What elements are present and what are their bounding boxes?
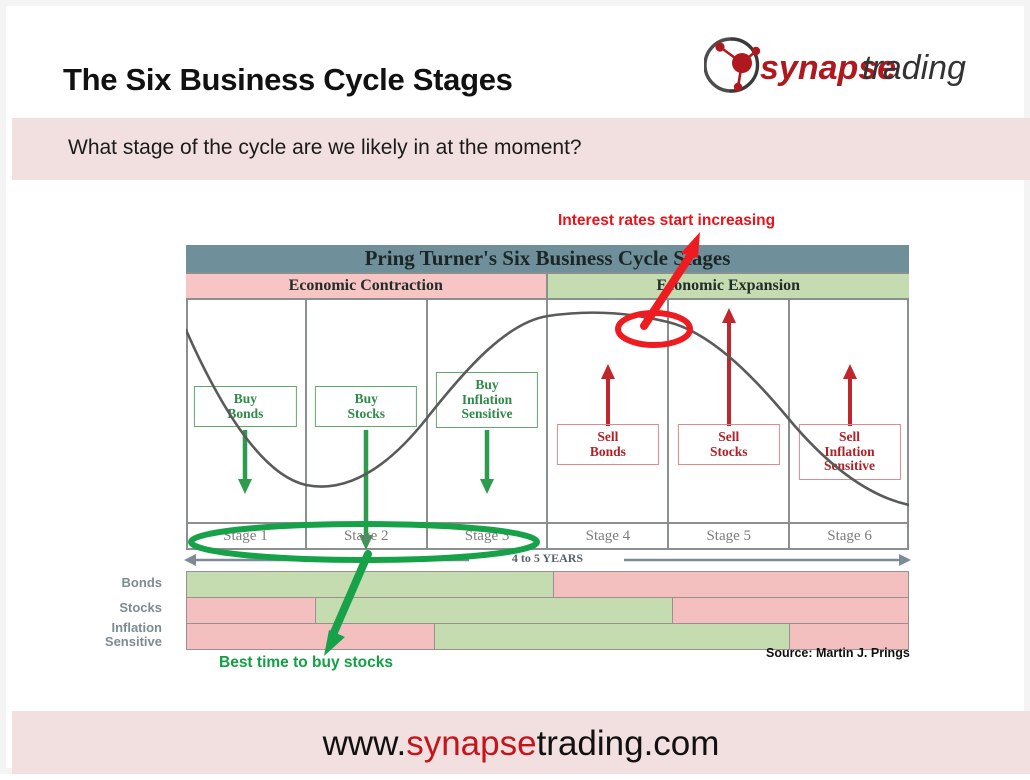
logo-svg: synapse trading — [704, 33, 966, 97]
asset-bar-segment — [187, 598, 315, 623]
phase-economic-expansion: Economic Expansion — [548, 274, 910, 298]
phase-band: Economic Contraction Economic Expansion — [186, 274, 909, 300]
stage-label-1: Stage 1 — [186, 524, 307, 548]
asset-label-inflation-sensitive: Inflation Sensitive — [105, 621, 162, 649]
logo-brand-suffix-text: trading — [862, 49, 966, 87]
phase-economic-contraction: Economic Contraction — [186, 274, 548, 298]
stage-label-6: Stage 6 — [790, 524, 909, 548]
chart-header-band: Pring Turner's Six Business Cycle Stages — [186, 245, 909, 274]
duration-label: 4 to 5 YEARS — [184, 551, 911, 566]
asset-bar-segment — [315, 598, 671, 623]
synapsetrading-logo: synapse trading — [704, 33, 966, 97]
asset-bar-segment — [187, 624, 434, 649]
asset-label-stocks: Stocks — [119, 601, 162, 615]
chart-title: Pring Turner's Six Business Cycle Stages — [365, 246, 731, 271]
asset-performance-bars — [186, 571, 909, 647]
subtitle-text: What stage of the cycle are we likely in… — [68, 136, 582, 160]
footer-url-brand: synapse — [406, 724, 536, 763]
stage-label-3: Stage 3 — [428, 524, 549, 548]
business-cycle-chart: Pring Turner's Six Business Cycle Stages… — [186, 245, 909, 550]
stage-label-2: Stage 2 — [307, 524, 428, 548]
stage-labels-row: Stage 1 Stage 2 Stage 3 Stage 4 Stage 5 … — [186, 522, 909, 548]
asset-label-bonds: Bonds — [122, 576, 162, 590]
asset-bar-segment — [187, 572, 553, 597]
annotation-interest-rates: Interest rates start increasing — [558, 212, 775, 230]
asset-bar-row-bonds — [186, 571, 909, 598]
annotation-best-time: Best time to buy stocks — [219, 654, 393, 672]
asset-bar-segment — [434, 624, 789, 649]
synapse-node-icon — [705, 39, 760, 91]
asset-bar-row-stocks — [186, 598, 909, 624]
asset-bar-segment — [553, 572, 908, 597]
duration-bar: 4 to 5 YEARS — [184, 551, 911, 569]
asset-bar-segment — [672, 598, 908, 623]
stage-label-5: Stage 5 — [669, 524, 790, 548]
asset-label-line: Inflation — [105, 621, 162, 635]
asset-bar-labels: Bonds Stocks Inflation Sensitive — [6, 566, 174, 652]
stage-label-4: Stage 4 — [548, 524, 669, 548]
footer-url-prefix: www. — [323, 724, 407, 763]
source-credit: Source: Martin J. Prings — [766, 646, 910, 660]
footer-url-suffix: trading.com — [537, 724, 720, 763]
business-cycle-wave — [186, 300, 909, 522]
asset-label-line: Sensitive — [105, 635, 162, 649]
slide-canvas: The Six Business Cycle Stages synapse tr… — [0, 0, 1030, 774]
page-title: The Six Business Cycle Stages — [63, 62, 513, 98]
footer-url[interactable]: www.synapsetrading.com — [6, 724, 1030, 764]
